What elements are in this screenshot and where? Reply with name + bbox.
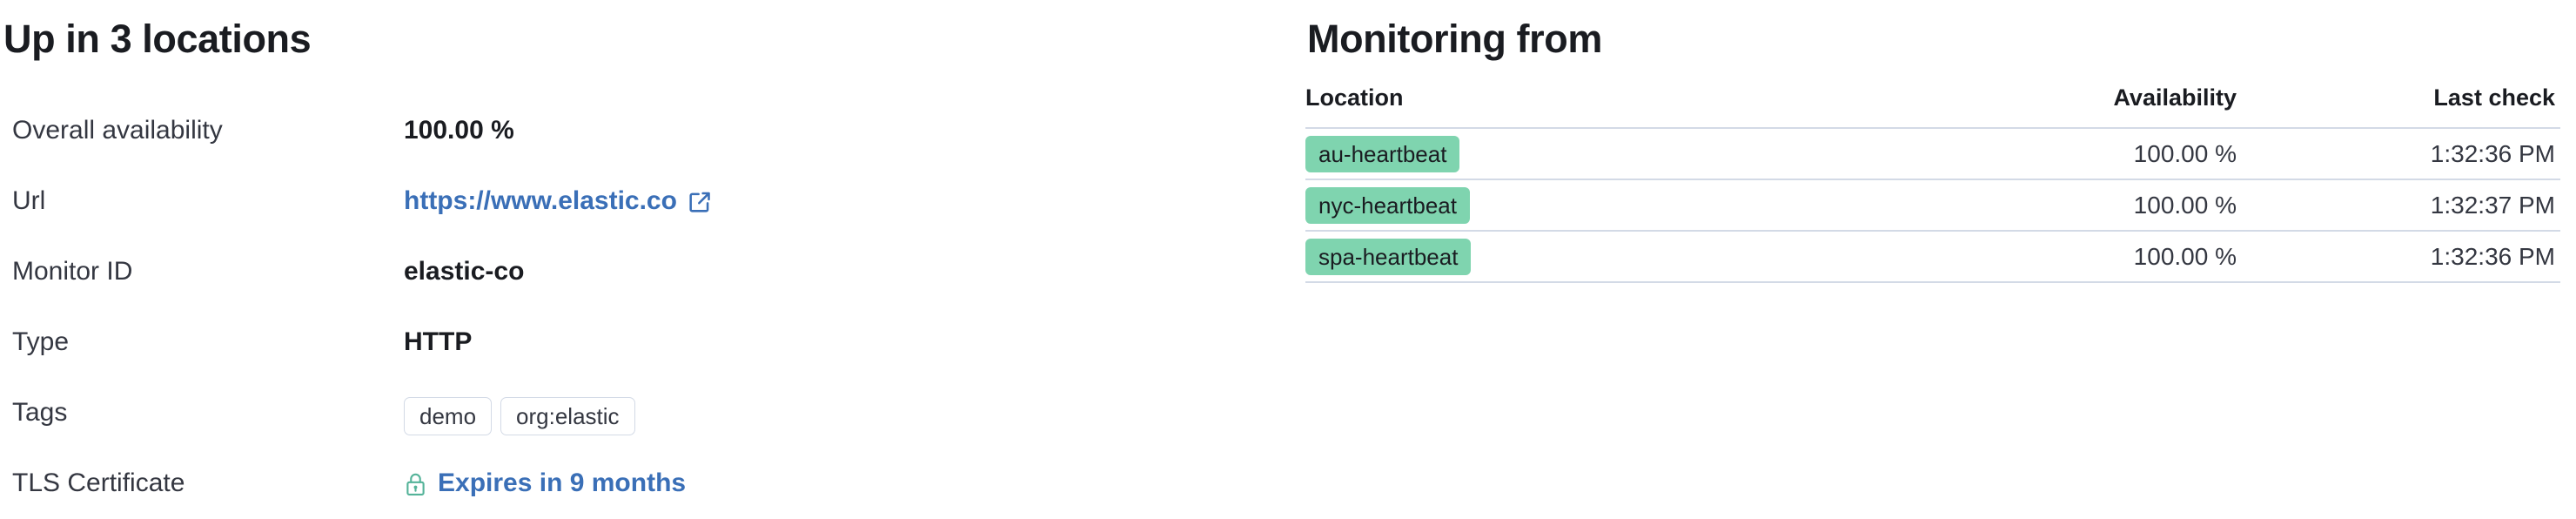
table-row: au-heartbeat 100.00 % 1:32:36 PM [1305, 128, 2560, 179]
location-badge[interactable]: au-heartbeat [1305, 136, 1459, 172]
detail-label-tags: Tags [12, 397, 67, 428]
detail-label-monitor-id: Monitor ID [12, 256, 132, 287]
detail-label-tls-certificate: TLS Certificate [12, 468, 184, 499]
type-value: HTTP [404, 327, 472, 358]
column-header-last-check[interactable]: Last check [2237, 84, 2560, 128]
detail-row-tls-certificate: TLS Certificate Expires in 9 months [0, 459, 1288, 519]
detail-value-type: HTTP [404, 327, 472, 358]
lock-icon [404, 472, 427, 497]
page-title: Up in 3 locations [3, 19, 311, 58]
overall-availability-value: 100.00 % [404, 115, 514, 146]
detail-label-type: Type [12, 327, 69, 358]
cell-last-check: 1:32:36 PM [2237, 128, 2560, 179]
cell-last-check: 1:32:37 PM [2237, 179, 2560, 231]
column-header-availability[interactable]: Availability [1862, 84, 2237, 128]
external-link-icon[interactable] [688, 190, 712, 214]
detail-row-overall-availability: Overall availability 100.00 % [0, 106, 1288, 177]
detail-value-monitor-id: elastic-co [404, 256, 524, 287]
detail-value-url: https://www.elastic.co [404, 185, 712, 217]
cell-availability: 100.00 % [1862, 179, 2237, 231]
detail-row-type: Type HTTP [0, 318, 1288, 388]
tag-pill[interactable]: org:elastic [500, 397, 635, 435]
detail-value-tls-certificate: Expires in 9 months [404, 468, 686, 499]
detail-label-url: Url [12, 185, 45, 217]
cell-location: nyc-heartbeat [1305, 179, 1862, 231]
monitoring-from-panel: Monitoring from Location Availability La… [1288, 0, 2576, 519]
detail-value-overall-availability: 100.00 % [404, 115, 514, 146]
tls-certificate-link[interactable]: Expires in 9 months [438, 468, 686, 499]
table-header-row: Location Availability Last check [1305, 84, 2560, 128]
cell-last-check: 1:32:36 PM [2237, 231, 2560, 282]
monitoring-locations-table: Location Availability Last check au-hear… [1305, 84, 2560, 283]
detail-value-tags: demo org:elastic [404, 397, 635, 435]
detail-row-url: Url https://www.elastic.co [0, 177, 1288, 247]
detail-row-monitor-id: Monitor ID elastic-co [0, 247, 1288, 318]
monitor-detail-page: Up in 3 locations Overall availability 1… [0, 0, 2576, 519]
cell-location: spa-heartbeat [1305, 231, 1862, 282]
monitoring-from-title: Monitoring from [1307, 19, 1602, 58]
detail-label-overall-availability: Overall availability [12, 115, 223, 146]
column-header-location[interactable]: Location [1305, 84, 1862, 128]
monitor-detail-list: Overall availability 100.00 % Url https:… [0, 106, 1288, 519]
tag-list: demo org:elastic [404, 397, 635, 435]
location-badge[interactable]: nyc-heartbeat [1305, 187, 1470, 224]
monitor-id-value: elastic-co [404, 256, 524, 287]
detail-row-tags: Tags demo org:elastic [0, 388, 1288, 459]
url-link[interactable]: https://www.elastic.co [404, 185, 677, 217]
cell-availability: 100.00 % [1862, 231, 2237, 282]
table-row: nyc-heartbeat 100.00 % 1:32:37 PM [1305, 179, 2560, 231]
cell-location: au-heartbeat [1305, 128, 1862, 179]
monitor-summary-panel: Up in 3 locations Overall availability 1… [0, 0, 1288, 519]
cell-availability: 100.00 % [1862, 128, 2237, 179]
table-row: spa-heartbeat 100.00 % 1:32:36 PM [1305, 231, 2560, 282]
tag-pill[interactable]: demo [404, 397, 492, 435]
location-badge[interactable]: spa-heartbeat [1305, 239, 1471, 275]
